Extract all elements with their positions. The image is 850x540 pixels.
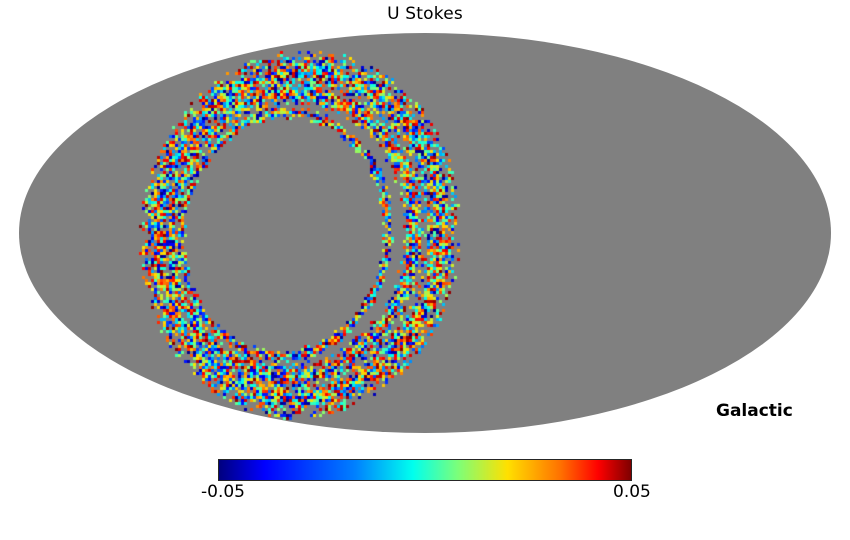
page-title: U Stokes <box>0 4 850 24</box>
mollweide-projection <box>19 33 831 433</box>
sky-map-figure: U Stokes Galactic -0.05 0.05 <box>0 0 850 540</box>
colorbar-gradient[interactable] <box>218 459 632 481</box>
colorbar-max-tick-label: 0.05 <box>613 482 651 502</box>
coordinate-frame-label: Galactic <box>716 401 793 421</box>
sky-data-layer <box>19 33 831 433</box>
colorbar[interactable] <box>218 459 632 481</box>
colorbar-min-tick-label: -0.05 <box>201 482 245 502</box>
